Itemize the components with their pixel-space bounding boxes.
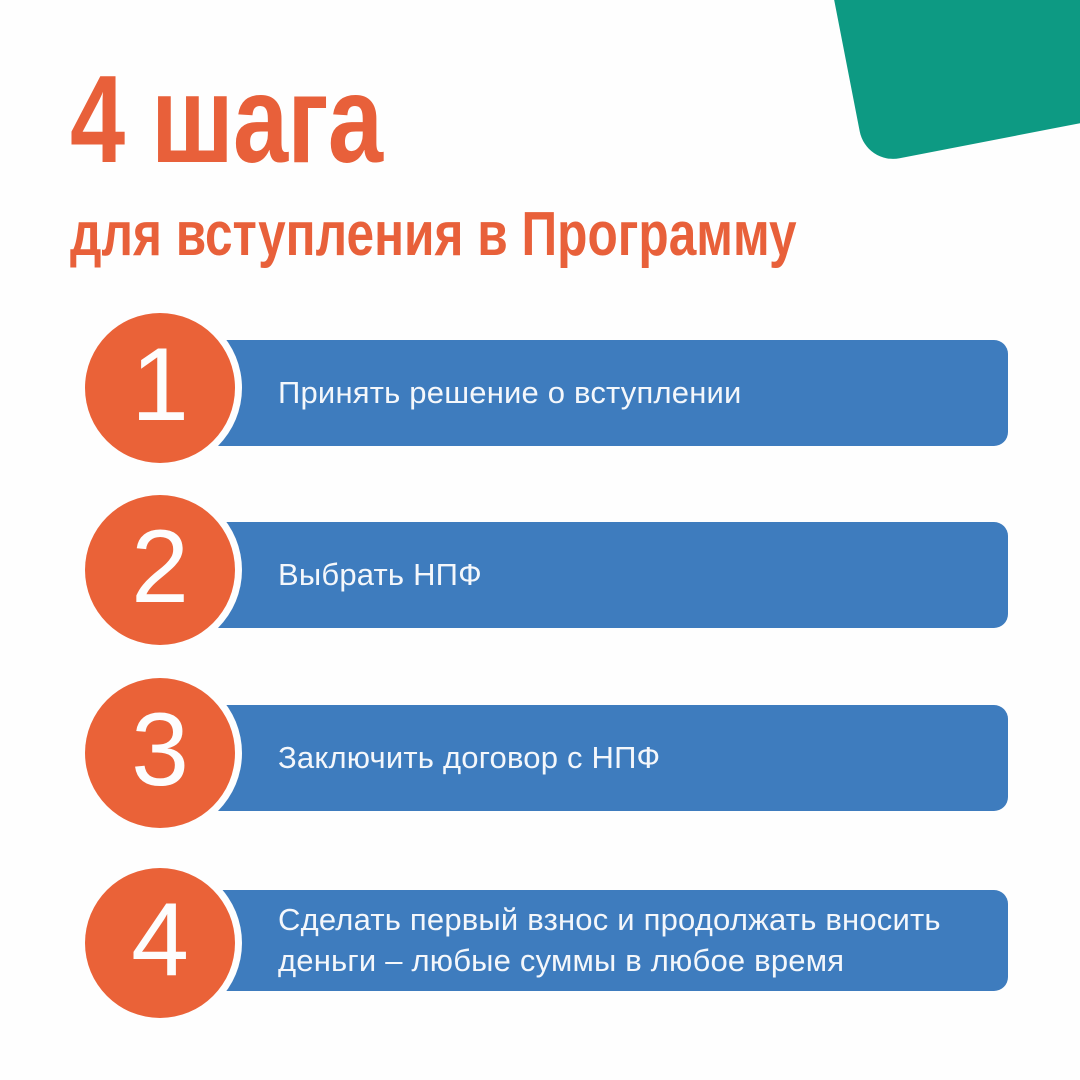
step-bar-3: Заключить договор с НПФ	[160, 705, 1008, 811]
step-label-1: Принять решение о вступлении	[278, 373, 742, 413]
step-bar-1: Принять решение о вступлении	[160, 340, 1008, 446]
step-circle-3: 3	[85, 678, 235, 828]
step-circle-4: 4	[85, 868, 235, 1018]
step-number-1: 1	[131, 333, 189, 437]
steps-list: Принять решение о вступлении 1 Выбрать Н…	[0, 0, 1080, 1080]
step-label-4: Сделать первый взнос и продолжать вносит…	[278, 900, 941, 981]
step-number-2: 2	[131, 515, 189, 619]
poster-canvas: 4 шага для вступления в Программу Принят…	[0, 0, 1080, 1080]
step-label-2: Выбрать НПФ	[278, 555, 482, 595]
step-circle-2: 2	[85, 495, 235, 645]
step-label-3: Заключить договор с НПФ	[278, 738, 660, 778]
step-bar-2: Выбрать НПФ	[160, 522, 1008, 628]
step-number-4: 4	[131, 888, 189, 992]
step-number-3: 3	[131, 698, 189, 802]
step-circle-1: 1	[85, 313, 235, 463]
step-bar-4: Сделать первый взнос и продолжать вносит…	[160, 890, 1008, 991]
